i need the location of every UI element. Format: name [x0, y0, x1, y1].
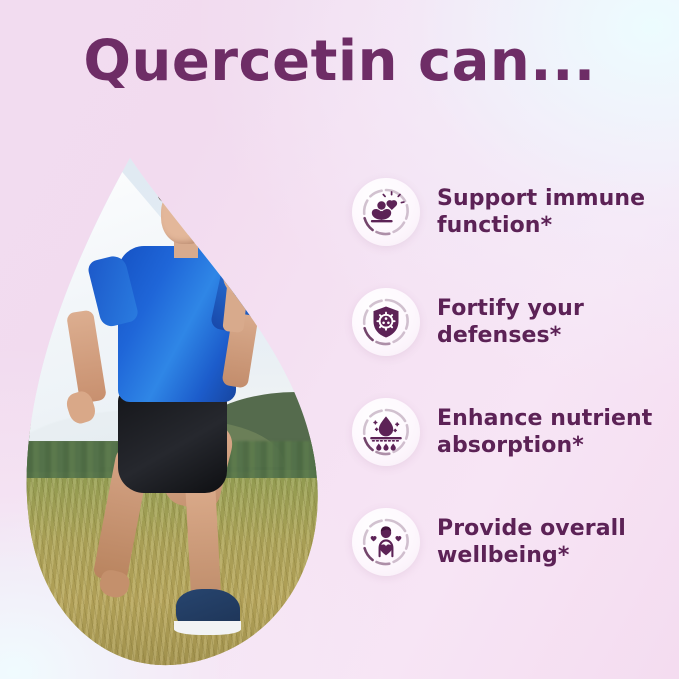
benefits-list: Support immune function*	[352, 170, 662, 610]
leaf-mask	[22, 150, 342, 670]
benefit-label-line2: wellbeing*	[437, 542, 626, 569]
benefit-label-line1: Support immune	[437, 185, 645, 212]
runner-shorts	[118, 389, 227, 493]
immune-flower-heart-icon	[352, 178, 420, 246]
runner-shoe-sole	[174, 621, 241, 636]
benefit-item: Support immune function*	[352, 170, 662, 254]
person-heart-wellbeing-icon	[352, 508, 420, 576]
promo-poster: Quercetin can...	[0, 0, 679, 679]
benefit-label: Enhance nutrient absorption*	[437, 405, 652, 460]
benefit-label: Fortify your defenses*	[437, 295, 584, 350]
benefit-label-line2: function*	[437, 212, 645, 239]
benefit-item: Provide overall wellbeing*	[352, 500, 662, 584]
runner-figure	[22, 150, 342, 670]
benefit-label-line1: Enhance nutrient	[437, 405, 652, 432]
benefit-item: Fortify your defenses*	[352, 280, 662, 364]
droplet-absorption-icon	[352, 398, 420, 466]
benefit-item: Enhance nutrient absorption*	[352, 390, 662, 474]
benefit-label: Support immune function*	[437, 185, 645, 240]
photo-background	[22, 150, 342, 670]
benefit-label-line1: Fortify your	[437, 295, 584, 322]
benefit-label-line2: absorption*	[437, 432, 652, 459]
benefit-label-line2: defenses*	[437, 322, 584, 349]
shield-virus-icon	[352, 288, 420, 356]
runner-hair	[158, 177, 212, 205]
benefit-label-line1: Provide overall	[437, 515, 626, 542]
page-title: Quercetin can...	[0, 33, 679, 92]
benefit-label: Provide overall wellbeing*	[437, 515, 626, 570]
runner-head	[161, 184, 211, 244]
runner-photo	[22, 150, 342, 670]
runner-left-arm	[66, 310, 107, 404]
